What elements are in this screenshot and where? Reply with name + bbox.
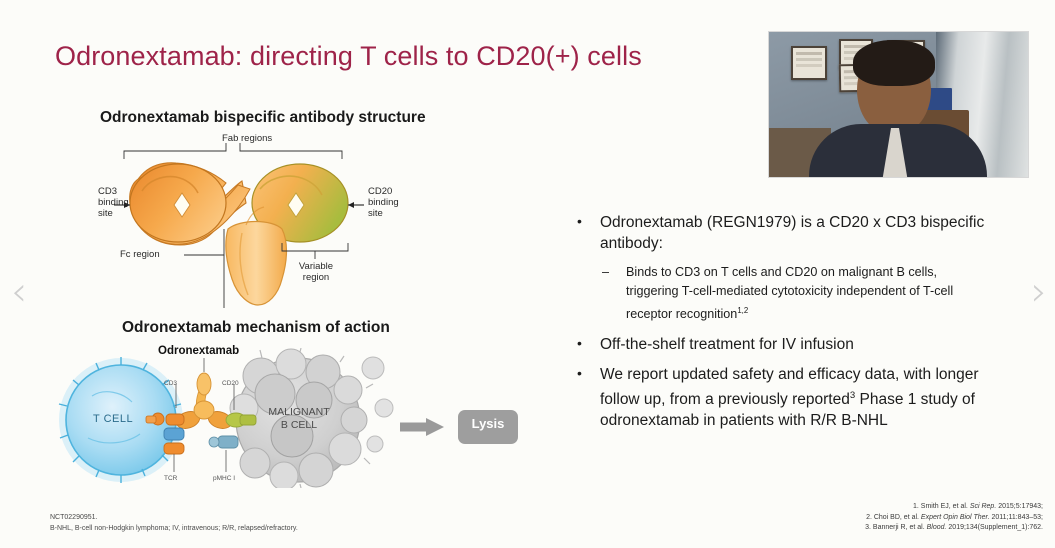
lysis-arrow [400,418,444,436]
cd3-label: CD3 [164,378,177,389]
reference-3-journal: Blood. [927,524,947,531]
fab-regions-label: Fab regions [222,133,272,144]
chevron-right-icon[interactable]: › [1026,272,1052,316]
presenter-hair [853,40,935,86]
reference-2-journal: Expert Opin Biol Ther. [921,514,990,521]
reference-2-prefix: 2. Choi BD, et al. [866,514,921,521]
cd20-label-line2: binding [368,197,399,208]
variable-region-bracket [282,243,348,251]
cd3-binding-site-label: CD3 binding site [98,186,129,219]
antibody-structure-diagram: Fab regions CD3 binding site CD20 bindin… [100,133,430,308]
cd20-arrow-head [348,202,354,208]
reference-2-suffix: 2011;11:843–53; [990,514,1043,521]
tcell-label: T CELL [93,414,133,425]
bullet-list: Odronextamab (REGN1979) is a CD20 x CD3 … [568,212,988,440]
presentation-slide: Odronextamab: directing T cells to CD20(… [0,0,1055,548]
cd20-label-line1: CD20 [368,186,399,197]
fc-region-label: Fc region [120,249,160,260]
cd3-label-line3: site [98,208,129,219]
abbreviations-text: B-NHL, B-cell non-Hodgkin lymphoma; IV, … [50,523,298,534]
odronextamab-label: Odronextamab [158,346,239,357]
bcell-label-line1: MALIGNANT [244,406,354,419]
variable-region-label: Variable region [290,261,342,283]
reference-1-prefix: 1. Smith EJ, et al. [913,503,970,510]
presenter-video-feed[interactable] [768,31,1029,178]
reference-1-journal: Sci Rep. [970,503,996,510]
bullet-item-2-sub: Binds to CD3 on T cells and CD20 on mali… [600,263,988,324]
bullet-item-3: Off-the-shelf treatment for IV infusion [568,334,988,355]
reference-item: 2. Choi BD, et al. Expert Opin Biol Ther… [865,513,1043,524]
reference-item: 1. Smith EJ, et al. Sci Rep. 2015;5:1794… [865,502,1043,513]
cd20-binding-site-label: CD20 binding site [368,186,399,219]
bullet-3-text: Off-the-shelf treatment for IV infusion [600,336,854,353]
reference-1-suffix: 2015;5:17943; [996,503,1043,510]
lysis-label: Lysis [458,418,518,429]
antibody-figure-heading: Odronextamab bispecific antibody structu… [100,109,426,127]
malignant-bcell-label: MALIGNANT B CELL [244,406,354,432]
fc-region-shape [226,222,287,306]
variable-label-line1: Variable [290,261,342,272]
reference-3-prefix: 3. Bannerji R, et al. [865,524,926,531]
bullet-item-4: We report updated safety and efficacy da… [568,364,988,431]
reference-item: 3. Bannerji R, et al. Blood. 2019;134(Su… [865,523,1043,534]
page-title: Odronextamab: directing T cells to CD20(… [55,41,642,72]
tcr-label: TCR [164,473,177,484]
mechanism-of-action-diagram: Odronextamab CD3 CD20 TCR pMHC I T CELL … [48,348,518,488]
footnote-left: NCT02290951. B-NHL, B-cell non-Hodgkin l… [50,512,298,534]
pmhc-receptor [209,436,238,448]
bullet-item-1: Odronextamab (REGN1979) is a CD20 x CD3 … [568,212,988,254]
references-list: 1. Smith EJ, et al. Sci Rep. 2015;5:1794… [865,502,1043,534]
mechanism-figure-heading: Odronextamab mechanism of action [122,319,390,337]
bullet-1-text: Odronextamab (REGN1979) is a CD20 x CD3 … [600,214,984,252]
chevron-left-icon[interactable]: ‹ [6,272,32,316]
reference-3-suffix: 2019;134(Supplement_1):762. [946,524,1043,531]
bcell-label-line2: B CELL [244,419,354,432]
variable-label-line2: region [290,272,342,283]
bullet-2-superscript: 1,2 [737,306,748,315]
trial-id-text: NCT02290951. [50,512,298,523]
pmhc-label: pMHC I [213,473,235,484]
framed-certificate [791,46,827,80]
cd20-label-line3: site [368,208,399,219]
cd20-label: CD20 [222,378,239,389]
cd3-label-line1: CD3 [98,186,129,197]
cd3-label-line2: binding [98,197,129,208]
fab-bracket-right [240,143,342,159]
fab-bracket-left [124,143,226,159]
bullet-2-text: Binds to CD3 on T cells and CD20 on mali… [626,265,953,321]
antibody-structure-svg [100,133,430,308]
